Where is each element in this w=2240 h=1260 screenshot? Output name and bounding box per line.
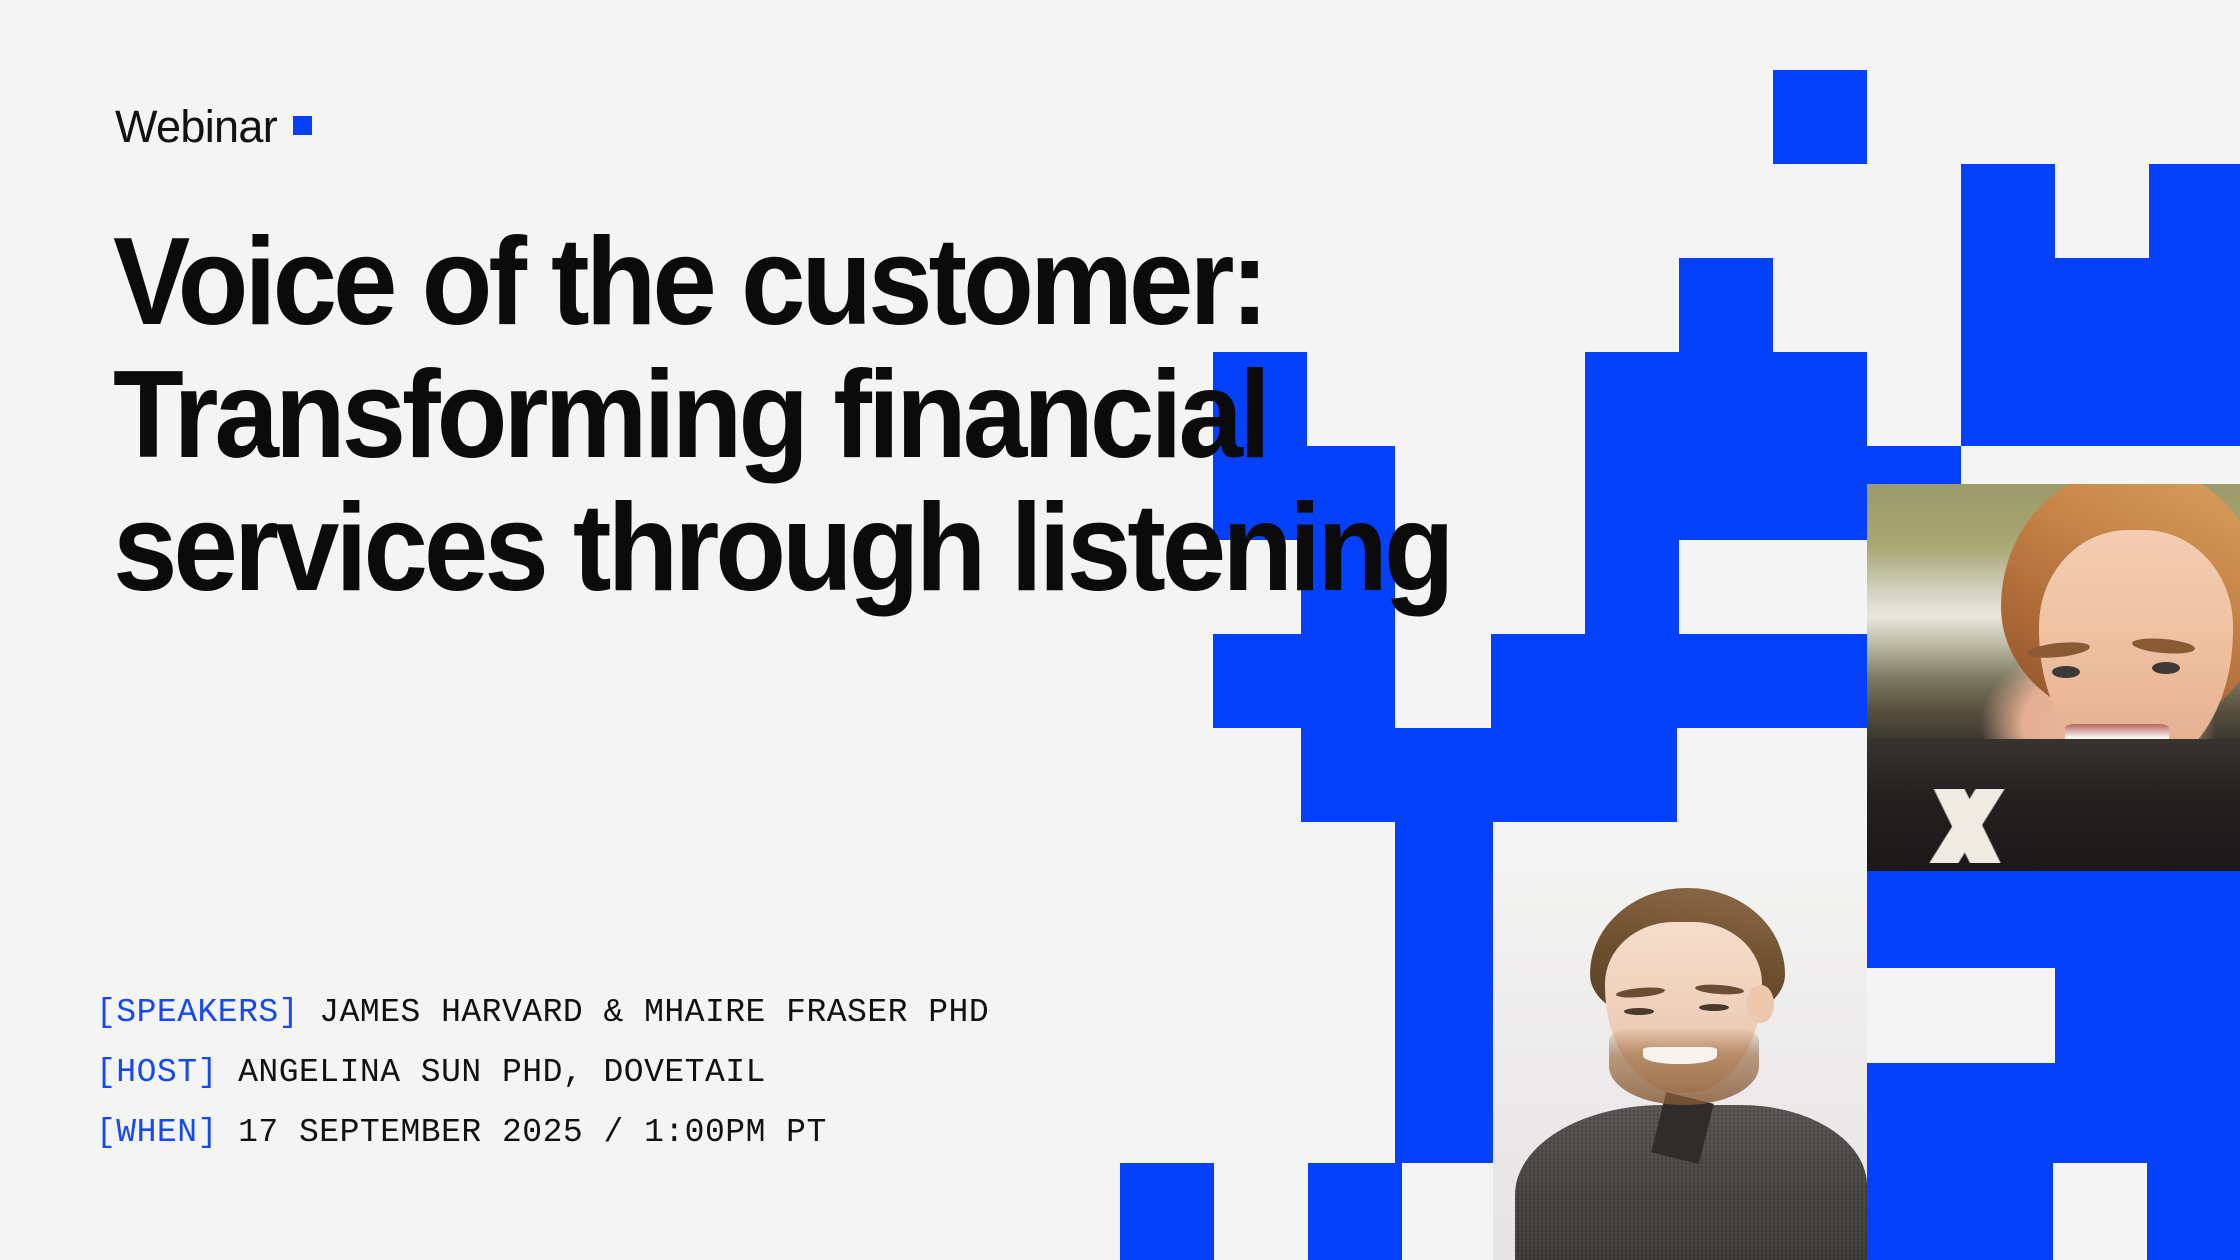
headline-line-2: Transforming financial — [113, 349, 1544, 482]
mosaic-tile — [1961, 258, 2055, 352]
mosaic-tile — [2055, 258, 2240, 352]
eyebrow: Webinar — [115, 104, 312, 149]
mosaic-tile — [1395, 1062, 1493, 1163]
mosaic-tile — [1395, 822, 1493, 1062]
eye-right — [1699, 1004, 1729, 1011]
mosaic-tile — [1308, 1163, 1402, 1260]
shirt-print — [1904, 789, 2038, 863]
beard-shape — [1609, 1027, 1759, 1105]
mosaic-tile — [1867, 446, 1961, 484]
mosaic-tile — [1585, 634, 1773, 728]
webinar-promo-canvas: Webinar Voice of the customer: Transform… — [0, 0, 2240, 1260]
mosaic-tile — [1867, 1063, 2240, 1163]
speakers-value: JAMES HARVARD & MHAIRE FRASER PHD — [319, 994, 989, 1031]
mosaic-tile — [1301, 728, 1395, 822]
event-details: [SPEAKERS] JAMES HARVARD & MHAIRE FRASER… — [96, 983, 989, 1163]
mosaic-tile — [1120, 1163, 1214, 1260]
ear-shape — [1747, 985, 1773, 1024]
mosaic-tile — [1679, 258, 1773, 352]
mosaic-tile — [1961, 164, 2055, 258]
eye-left — [1624, 1008, 1654, 1015]
headline-line-1: Voice of the customer: — [113, 216, 1544, 349]
mosaic-tile — [1585, 352, 1867, 446]
mosaic-tile — [2055, 968, 2240, 1063]
mosaic-tile — [1585, 540, 1679, 634]
mosaic-tile — [1395, 728, 1677, 822]
mosaic-tile — [1491, 634, 1585, 822]
speaker-photo-man — [1493, 872, 1867, 1260]
speaker-photo-woman — [1867, 484, 2240, 871]
mosaic-tile — [1213, 634, 1307, 728]
mosaic-tile — [1867, 872, 2240, 968]
when-label: [WHEN] — [96, 1114, 218, 1151]
mosaic-tile — [2147, 1163, 2240, 1260]
accent-square-icon — [293, 116, 312, 135]
page-title: Voice of the customer: Transforming fina… — [113, 216, 1544, 615]
teeth-shape — [1643, 1047, 1718, 1065]
mosaic-tile — [2149, 164, 2240, 258]
shirt-shape — [1867, 739, 2240, 871]
speakers-label: [SPEAKERS] — [96, 994, 299, 1031]
detail-row-speakers: [SPEAKERS] JAMES HARVARD & MHAIRE FRASER… — [96, 983, 989, 1043]
when-value: 17 SEPTEMBER 2025 / 1:00PM PT — [238, 1114, 827, 1151]
host-label: [HOST] — [96, 1054, 218, 1091]
headline-line-3: services through listening — [113, 482, 1544, 615]
mosaic-tile — [1585, 446, 1867, 540]
eyebrow-label: Webinar — [115, 104, 277, 149]
mosaic-tile — [1773, 70, 1867, 164]
mosaic-tile — [1961, 352, 2240, 446]
eye-left — [2052, 666, 2080, 678]
host-value: ANGELINA SUN PHD, DOVETAIL — [238, 1054, 766, 1091]
mosaic-tile — [1867, 1163, 2053, 1260]
detail-row-host: [HOST] ANGELINA SUN PHD, DOVETAIL — [96, 1043, 989, 1103]
detail-row-when: [WHEN] 17 SEPTEMBER 2025 / 1:00PM PT — [96, 1103, 989, 1163]
